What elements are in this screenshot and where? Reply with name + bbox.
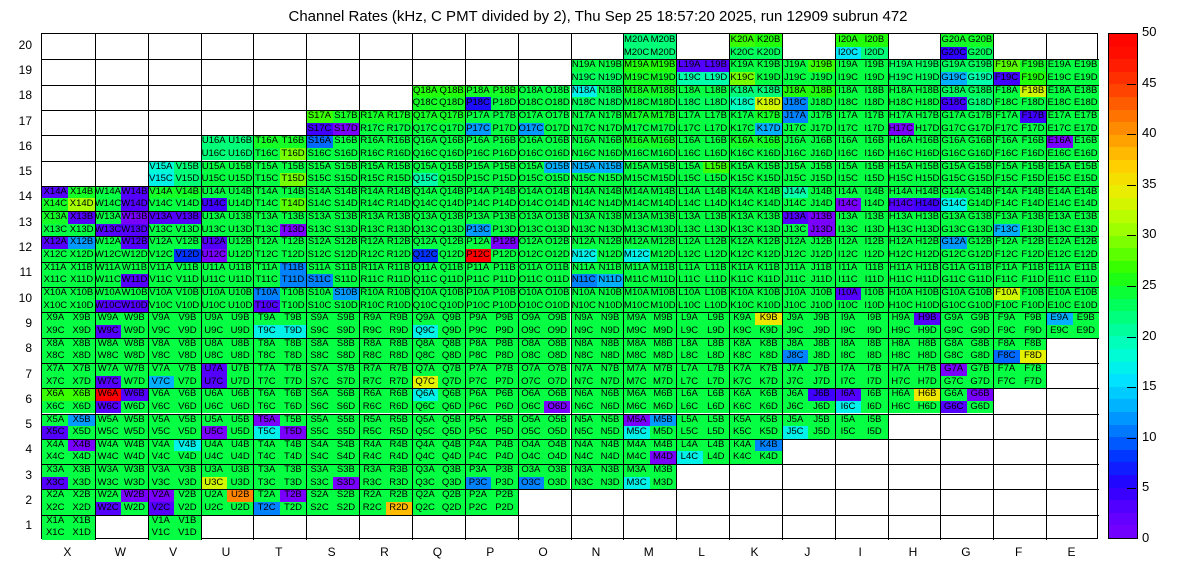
grid-line-horizontal xyxy=(42,110,1099,111)
colorbar-tick-label: 0 xyxy=(1142,530,1149,545)
colorbar-swatch xyxy=(1109,423,1137,437)
y-axis-tick-label: 3 xyxy=(2,468,32,482)
y-axis-tick-label: 4 xyxy=(2,442,32,456)
x-axis-tick-label: V xyxy=(153,545,193,559)
colorbar-tick-label: 40 xyxy=(1142,125,1156,140)
colorbar-tick-label: 30 xyxy=(1142,226,1156,241)
grid-line-horizontal xyxy=(42,363,1099,364)
colorbar-swatch xyxy=(1109,58,1137,72)
colorbar-swatch xyxy=(1109,83,1137,97)
x-axis-tick-label: N xyxy=(576,545,616,559)
colorbar-swatch xyxy=(1109,348,1137,362)
y-axis-tick-label: 11 xyxy=(2,265,32,279)
x-axis-tick-label: J xyxy=(787,545,827,559)
channel-rates-plot: Channel Rates (kHz, C PMT divided by 2),… xyxy=(0,0,1196,572)
colorbar-tick-label: 25 xyxy=(1142,277,1156,292)
y-axis-tick-label: 1 xyxy=(2,518,32,532)
colorbar-swatch xyxy=(1109,146,1137,160)
x-axis-tick-label: Q xyxy=(417,545,457,559)
colorbar-tick xyxy=(1127,185,1136,186)
colorbar-swatch xyxy=(1109,121,1137,135)
colorbar-tick-label: 15 xyxy=(1142,378,1156,393)
colorbar-swatch xyxy=(1109,171,1137,185)
x-axis-tick-label: L xyxy=(682,545,722,559)
colorbar-tick-label: 45 xyxy=(1142,75,1156,90)
y-axis-tick-label: 5 xyxy=(2,417,32,431)
colorbar-swatch xyxy=(1109,512,1137,526)
colorbar-swatch xyxy=(1109,197,1137,211)
x-axis-tick-label: T xyxy=(259,545,299,559)
x-axis-tick-label: P xyxy=(470,545,510,559)
x-axis-tick-label: W xyxy=(100,545,140,559)
x-axis-tick-label: U xyxy=(206,545,246,559)
y-axis-tick-label: 16 xyxy=(2,139,32,153)
colorbar-swatch xyxy=(1109,449,1137,463)
x-axis-tick-label: R xyxy=(365,545,405,559)
colorbar-swatch xyxy=(1109,461,1137,475)
x-axis-tick-label: O xyxy=(523,545,563,559)
y-axis-tick-label: 19 xyxy=(2,63,32,77)
colorbar-tick xyxy=(1127,134,1136,135)
grid-line-horizontal xyxy=(42,312,1099,313)
y-axis-tick-label: 7 xyxy=(2,367,32,381)
colorbar-swatch xyxy=(1109,272,1137,286)
grid-line-horizontal xyxy=(42,186,1099,187)
y-axis-tick-label: 6 xyxy=(2,392,32,406)
colorbar-swatch xyxy=(1109,96,1137,110)
y-axis-tick-label: 15 xyxy=(2,164,32,178)
grid-line-horizontal xyxy=(42,135,1099,136)
y-axis-tick-label: 12 xyxy=(2,240,32,254)
colorbar-swatch xyxy=(1109,310,1137,324)
colorbar-tick-label: 50 xyxy=(1142,24,1156,39)
colorbar-swatch xyxy=(1109,411,1137,425)
colorbar-swatch xyxy=(1109,323,1137,337)
colorbar-tick xyxy=(1127,337,1136,338)
grid-line-horizontal xyxy=(42,262,1099,263)
y-axis-tick-label: 17 xyxy=(2,114,32,128)
colorbar-swatch xyxy=(1109,360,1137,374)
y-axis-tick-label: 8 xyxy=(2,341,32,355)
colorbar-tick xyxy=(1127,286,1136,287)
colorbar-swatch xyxy=(1109,234,1137,248)
colorbar-swatch xyxy=(1109,209,1137,223)
x-axis-tick-label: M xyxy=(629,545,669,559)
colorbar-tick-label: 35 xyxy=(1142,176,1156,191)
colorbar-tick xyxy=(1127,488,1136,489)
colorbar-swatch xyxy=(1109,45,1137,59)
x-axis-tick-label: H xyxy=(893,545,933,559)
colorbar-swatch xyxy=(1109,159,1137,173)
heatmap-plot-area[interactable]: M20AM20BM20CM20DK20AK20BK20CK20DI20AI20B… xyxy=(41,33,1098,539)
x-axis-tick-label: X xyxy=(47,545,87,559)
colorbar-swatch xyxy=(1109,499,1137,513)
colorbar-swatch xyxy=(1109,33,1137,47)
grid-line-horizontal xyxy=(42,161,1099,162)
colorbar-swatch xyxy=(1109,71,1137,85)
y-axis-tick-label: 14 xyxy=(2,189,32,203)
heatmap-grid-layer xyxy=(42,34,1097,538)
grid-line-horizontal xyxy=(42,439,1099,440)
colorbar-tick xyxy=(1127,387,1136,388)
colorbar-tick-label: 5 xyxy=(1142,479,1149,494)
colorbar-swatch xyxy=(1109,222,1137,236)
grid-line-horizontal xyxy=(42,59,1099,60)
grid-line-horizontal xyxy=(42,464,1099,465)
grid-line-horizontal xyxy=(42,338,1099,339)
x-axis-tick-label: F xyxy=(999,545,1039,559)
y-axis-tick-label: 9 xyxy=(2,316,32,330)
colorbar-tick xyxy=(1127,84,1136,85)
colorbar-swatch xyxy=(1109,134,1137,148)
colorbar-tick xyxy=(1127,438,1136,439)
x-axis-tick-label: I xyxy=(840,545,880,559)
colorbar-swatch xyxy=(1109,398,1137,412)
grid-line-horizontal xyxy=(42,236,1099,237)
grid-line-horizontal xyxy=(42,515,1099,516)
y-axis-tick-label: 13 xyxy=(2,215,32,229)
colorbar-swatch xyxy=(1109,474,1137,488)
y-axis-tick-label: 2 xyxy=(2,493,32,507)
colorbar-tick-label: 10 xyxy=(1142,429,1156,444)
x-axis-tick-label: S xyxy=(312,545,352,559)
colorbar-swatch xyxy=(1109,297,1137,311)
colorbar-swatch xyxy=(1109,108,1137,122)
grid-line-horizontal xyxy=(42,211,1099,212)
grid-line-horizontal xyxy=(42,388,1099,389)
colorbar-swatch xyxy=(1109,247,1137,261)
grid-line-horizontal xyxy=(42,489,1099,490)
colorbar-swatch xyxy=(1109,373,1137,387)
colorbar-swatch xyxy=(1109,524,1137,538)
x-axis-tick-label: E xyxy=(1052,545,1092,559)
colorbar-swatch xyxy=(1109,184,1137,198)
x-axis-tick-label: G xyxy=(946,545,986,559)
y-axis-tick-label: 20 xyxy=(2,38,32,52)
colorbar-swatch xyxy=(1109,260,1137,274)
grid-line-horizontal xyxy=(42,287,1099,288)
grid-line-horizontal xyxy=(42,414,1099,415)
page-title: Channel Rates (kHz, C PMT divided by 2),… xyxy=(0,8,1196,25)
y-axis-tick-label: 10 xyxy=(2,291,32,305)
colorbar-tick-label: 20 xyxy=(1142,328,1156,343)
colorbar-tick xyxy=(1127,235,1136,236)
x-axis-tick-label: K xyxy=(734,545,774,559)
y-axis-tick-label: 18 xyxy=(2,88,32,102)
grid-line-horizontal xyxy=(42,85,1099,86)
